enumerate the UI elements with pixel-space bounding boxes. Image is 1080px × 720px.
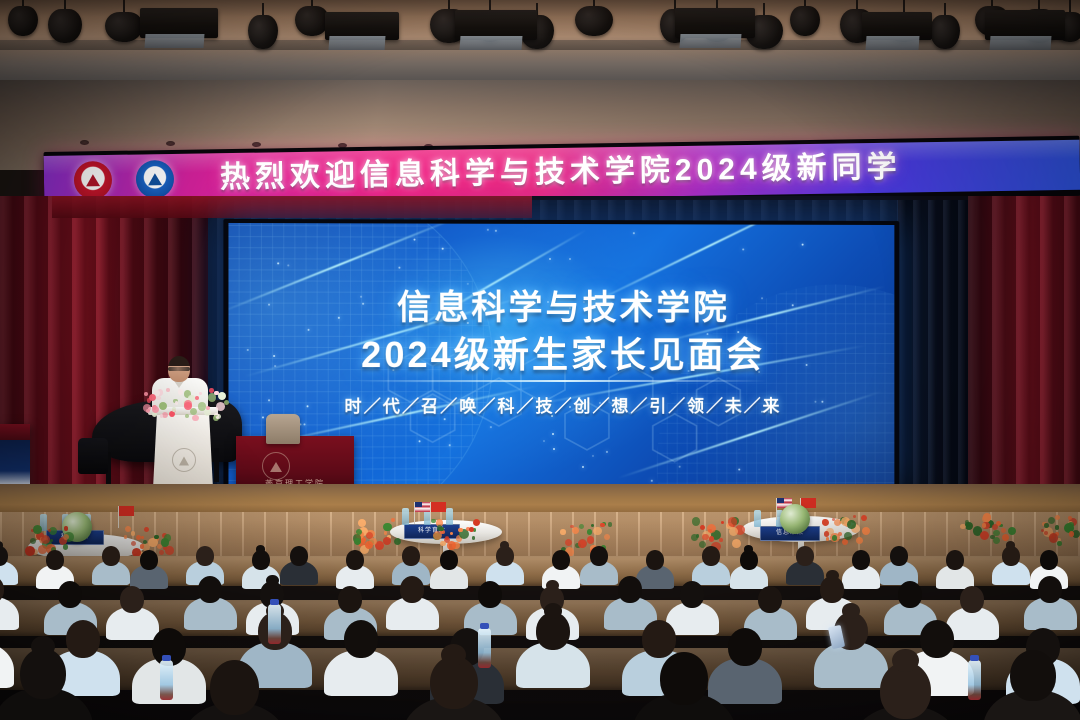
person-head (346, 550, 364, 570)
person-head (210, 660, 259, 715)
water-bottle (268, 604, 281, 644)
piano-bench (78, 438, 108, 474)
network-node (802, 243, 804, 245)
water-bottle (968, 660, 981, 700)
screen-subtitle: 时／代／召／唤／科／技／创／想／引／领／未／来 (228, 392, 894, 418)
flower-bouquet (348, 518, 402, 552)
person-head (1038, 576, 1062, 603)
flower-bouquet (820, 512, 874, 546)
stage-chair (266, 414, 300, 444)
person-head (46, 550, 64, 570)
person-head (1040, 550, 1058, 570)
flower (218, 392, 226, 400)
red-curtain-right (968, 196, 1080, 516)
person-head (646, 550, 664, 570)
head-table-emblem-icon (262, 452, 290, 480)
hair-bun (441, 644, 466, 666)
person-head (680, 581, 704, 608)
hair-bun (892, 649, 919, 672)
hair-bun (546, 580, 559, 591)
ceiling-shading (0, 0, 1080, 92)
flower (175, 401, 179, 405)
podium-emblem-icon (172, 448, 196, 472)
person-head (196, 546, 214, 566)
curtain-valance (52, 196, 532, 218)
person-head (58, 581, 82, 608)
network-node (742, 248, 744, 250)
flower (169, 411, 175, 417)
auditorium-photo: 热烈欢迎信息科学与技术学院2024级新同学 (0, 0, 1080, 720)
flower (172, 407, 176, 411)
person-head (1010, 650, 1056, 701)
flower (198, 402, 207, 411)
person-head (898, 581, 922, 608)
hair-bun (500, 541, 509, 549)
person-head (198, 576, 222, 603)
flower (143, 404, 151, 412)
network-node (413, 238, 415, 240)
recessed-downlight-icon (80, 140, 89, 145)
hair-bun (1006, 541, 1015, 549)
person-head (758, 586, 782, 613)
person-head (946, 550, 964, 570)
water-bottle (478, 628, 491, 668)
person-head (618, 576, 642, 603)
water-bottle (754, 510, 761, 527)
navy-side-curtain (898, 200, 970, 500)
person-head (660, 652, 708, 705)
piano-leg (214, 448, 219, 482)
person-head (590, 546, 608, 566)
globe-decoration-icon (780, 504, 810, 534)
hair-bun (842, 603, 860, 619)
network-node (287, 264, 289, 266)
flower (152, 406, 159, 413)
person-head (920, 620, 954, 658)
flower (166, 388, 170, 392)
person-head (402, 546, 420, 566)
person-head (120, 586, 144, 613)
hair-bun (256, 545, 265, 553)
person-head (344, 620, 378, 658)
person-head (66, 620, 100, 658)
flower (192, 415, 198, 421)
water-bottle (402, 508, 409, 525)
flower (209, 388, 214, 393)
hair-bun (826, 570, 839, 581)
person-head (728, 628, 762, 666)
flower (216, 416, 220, 420)
person-head (642, 620, 676, 658)
network-node (303, 423, 305, 425)
person-head (552, 550, 570, 570)
person-head (140, 550, 158, 570)
hair-bun (544, 603, 562, 619)
flower-bouquet (960, 512, 1014, 546)
flag-us-icon (414, 502, 430, 524)
flower-bouquet (690, 514, 744, 548)
podium-flower-arrangement (140, 388, 226, 418)
person-head (400, 576, 424, 603)
flower (156, 396, 161, 401)
person-head (338, 586, 362, 613)
flower (149, 394, 156, 401)
flower-bouquet (430, 518, 484, 552)
person-head (796, 546, 814, 566)
screen-divider (358, 380, 768, 382)
hair-bun (744, 545, 753, 553)
person-head (852, 550, 870, 570)
flower (178, 389, 183, 394)
screen-title-line2: 2024级新生家长见面会 (228, 326, 894, 378)
network-node (277, 262, 279, 264)
flower (204, 409, 211, 416)
person-head (890, 546, 908, 566)
hair-bun (266, 575, 279, 586)
rollup-banner-top (0, 424, 30, 440)
screen-title-line1: 信息科学与技术学院 (228, 279, 894, 329)
flower (206, 406, 210, 410)
person-head (290, 546, 308, 566)
network-node (487, 228, 489, 230)
hair-bun (31, 636, 55, 657)
flower-bouquet (1040, 514, 1080, 548)
network-node (495, 229, 497, 231)
water-bottle (160, 660, 173, 700)
person-head (102, 546, 120, 566)
person-head (960, 586, 984, 613)
flower (159, 402, 167, 410)
person-head (478, 581, 502, 608)
flower (195, 396, 200, 401)
flower (144, 392, 148, 396)
person-head (440, 550, 458, 570)
flower (199, 392, 202, 395)
flower (216, 402, 225, 411)
flower (185, 414, 189, 418)
glasses-icon (168, 367, 190, 371)
person-head (702, 546, 720, 566)
